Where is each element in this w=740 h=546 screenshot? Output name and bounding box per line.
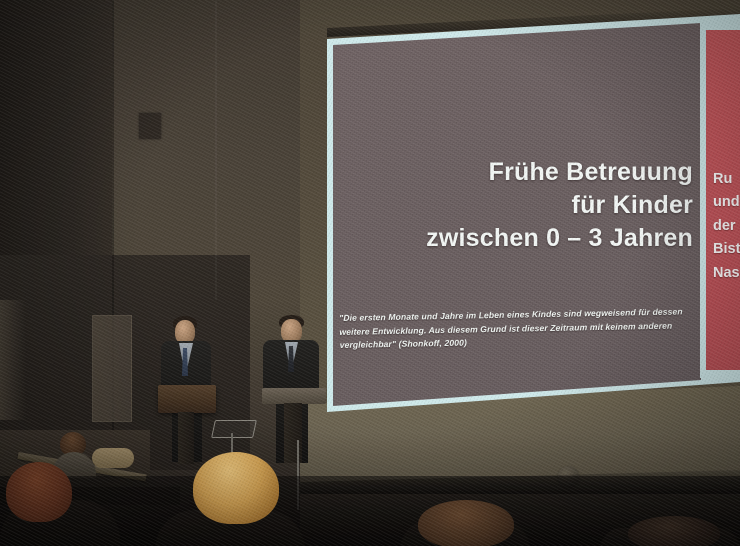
- wall-door-panel: [92, 315, 132, 422]
- presentation-slide: Frühe Betreuung für Kinder zwischen 0 – …: [333, 20, 701, 406]
- audience-blonde-head: [193, 452, 279, 524]
- secondary-slide-panel: Ru und der Bist Nas: [706, 30, 740, 370]
- lectern-left-top: [158, 385, 216, 413]
- lectern-right-post: [284, 403, 302, 463]
- audience-brown-head: [418, 500, 514, 546]
- music-stand-left: [211, 420, 257, 438]
- slide-quote-text: "Die ersten Monate und Jahre im Leben ei…: [339, 305, 692, 352]
- lecture-hall-photo: Frühe Betreuung für Kinder zwischen 0 – …: [0, 0, 740, 546]
- slide-title-line-1: Frühe Betreuung: [363, 156, 693, 189]
- audience-red-head: [6, 462, 72, 522]
- slide-title-line-3: zwischen 0 – 3 Jahren: [363, 222, 693, 255]
- speaker-right-tie: [288, 346, 294, 372]
- lectern-left-post: [178, 412, 194, 464]
- secondary-slide-line-1: Ru: [713, 168, 740, 191]
- wall-light-patch: [0, 300, 26, 420]
- slide-title: Frühe Betreuung für Kinder zwischen 0 – …: [363, 156, 693, 255]
- secondary-slide-line-3: der: [713, 215, 740, 238]
- secondary-slide-line-4: Bist: [713, 238, 740, 261]
- slide-title-line-2: für Kinder: [363, 189, 693, 222]
- lectern-right-top: [262, 388, 326, 404]
- speaker-left-tie: [182, 348, 188, 376]
- audience-dark-head: [628, 516, 720, 546]
- wall-seam-mid: [215, 0, 217, 300]
- audience-seated-arm: [92, 448, 134, 468]
- secondary-slide-line-5: Nas: [713, 262, 740, 285]
- secondary-slide-text: Ru und der Bist Nas: [713, 168, 740, 285]
- secondary-slide-line-2: und: [713, 191, 740, 214]
- wall-plate-fixture: [139, 113, 161, 139]
